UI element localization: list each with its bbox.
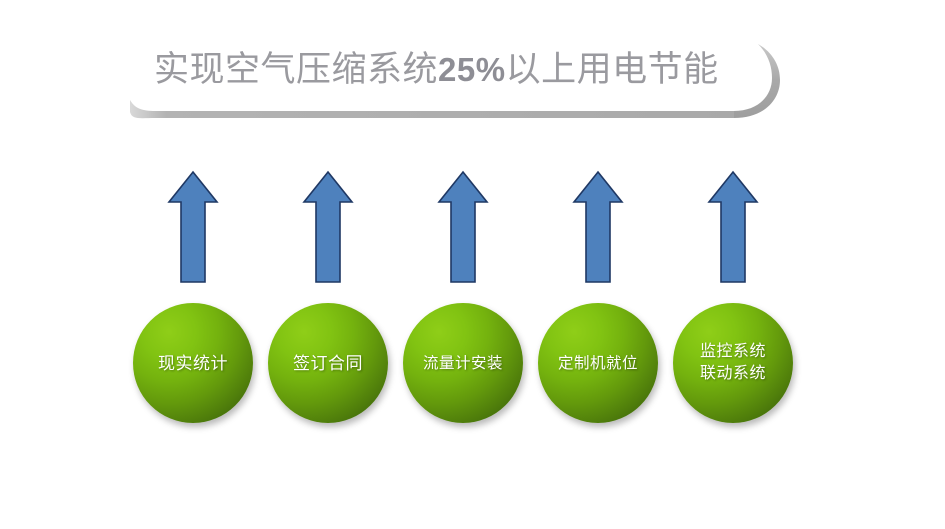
up-arrow-icon <box>165 168 221 286</box>
up-arrow-icon <box>300 168 356 286</box>
slide-canvas: 实现空气压缩系统25%以上用电节能 <box>0 0 945 529</box>
process-node-label: 现实统计 <box>154 353 232 374</box>
up-arrow-icon-4 <box>570 168 626 286</box>
process-node-1[interactable]: 现实统计 <box>133 303 253 423</box>
arrows-row <box>0 168 945 288</box>
up-arrow-icon-1 <box>165 168 221 286</box>
up-arrow-icon-3 <box>435 168 491 286</box>
process-node-4[interactable]: 定制机就位 <box>538 303 658 423</box>
up-arrow-icon <box>570 168 626 286</box>
page-title: 实现空气压缩系统25%以上用电节能 <box>154 44 754 96</box>
process-node-label: 签订合同 <box>289 353 367 374</box>
process-node-5[interactable]: 监控系统 联动系统 <box>673 303 793 423</box>
process-nodes-row: 现实统计 签订合同 流量计安装 定制机就位 监控系统 联动系统 <box>0 303 945 427</box>
title-prefix: 实现空气压缩系统 <box>154 50 438 89</box>
process-node-2[interactable]: 签订合同 <box>268 303 388 423</box>
title-suffix: 以上用电节能 <box>506 50 719 89</box>
up-arrow-icon-2 <box>300 168 356 286</box>
title-percent: 25% <box>438 51 506 88</box>
process-node-label: 定制机就位 <box>554 353 642 374</box>
up-arrow-icon <box>435 168 491 286</box>
process-node-label: 监控系统 联动系统 <box>696 341 770 385</box>
process-node-3[interactable]: 流量计安装 <box>403 303 523 423</box>
up-arrow-icon-5 <box>705 168 761 286</box>
up-arrow-icon <box>705 168 761 286</box>
process-node-label: 流量计安装 <box>419 353 507 374</box>
title-banner: 实现空气压缩系统25%以上用电节能 <box>122 30 782 125</box>
